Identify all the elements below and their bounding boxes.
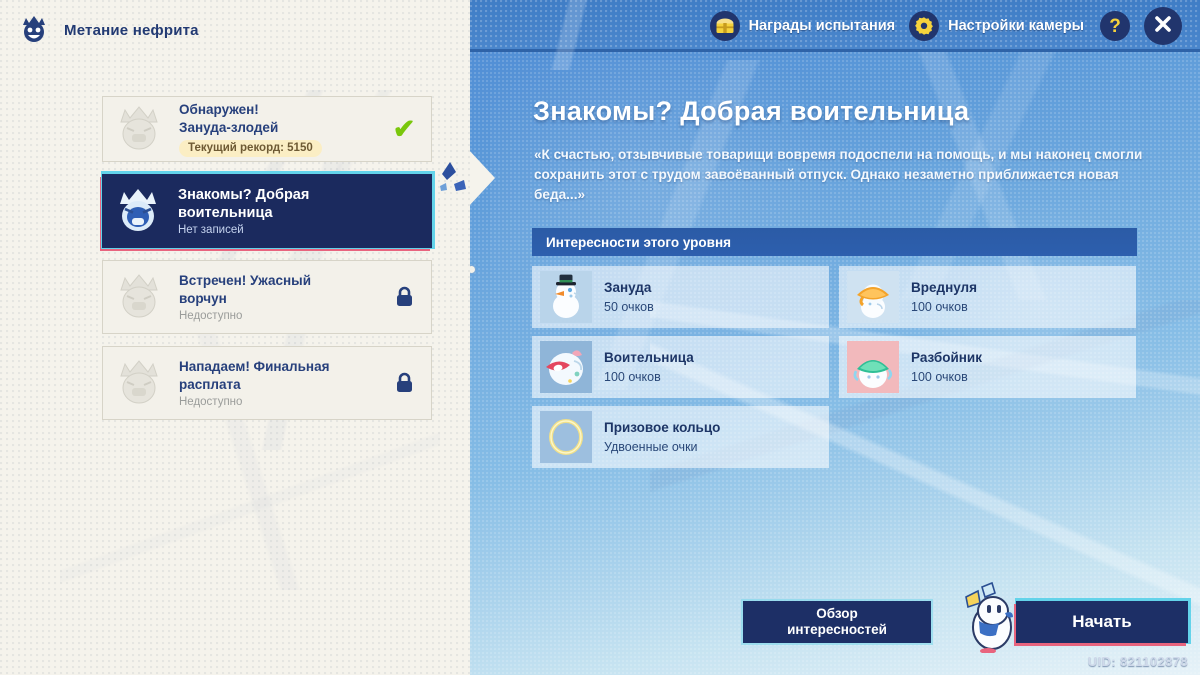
golden-ring-icon: [540, 411, 592, 463]
stage-item-4-title-line1: Нападаем! Финальная: [179, 359, 329, 374]
help-button[interactable]: ?: [1100, 11, 1130, 41]
poi-item-2-value: 100 очков: [911, 300, 977, 314]
stage-item-4-title-line2: расплата: [179, 377, 241, 392]
lock-icon: [387, 286, 421, 308]
poi-item-2-text: Вреднуля 100 очков: [911, 280, 977, 313]
footer-actions: Обзор интересностей Начать UID: 82110287…: [470, 585, 1200, 675]
poi-item-1-value: 50 очков: [604, 300, 654, 314]
start-button[interactable]: Начать: [1016, 601, 1188, 643]
toolbar-actions: Награды испытания Настройки камеры ?: [710, 0, 1182, 52]
overview-button-label: Обзор интересностей: [787, 606, 887, 637]
close-button[interactable]: [1144, 7, 1182, 45]
stage-item-4[interactable]: Нападаем! Финальная расплата Недоступно: [102, 346, 432, 420]
stage-item-3-title-line2: ворчун: [179, 291, 227, 306]
poi-item-3-name: Воительница: [604, 350, 694, 366]
poi-item-3-text: Воительница 100 очков: [604, 350, 694, 383]
page-title: Метание нефрита: [64, 22, 199, 39]
detail-heading: Знакомы? Добрая воительница: [533, 96, 969, 127]
stage-list: Обнаружен! Зануда-злодей Текущий рекорд:…: [102, 96, 432, 432]
stage-item-2-title-line1: Знакомы? Добрая: [178, 187, 309, 203]
stage-item-2-text: Знакомы? Добрая воительница Нет записей: [178, 186, 422, 236]
detail-story-text: «К счастью, отзывчивые товарищи вовремя …: [534, 145, 1149, 205]
poi-item-2-name: Вреднуля: [911, 280, 977, 296]
overview-button-label-line1: Обзор: [787, 606, 887, 622]
detail-content: Знакомы? Добрая воительница «К счастью, …: [470, 52, 1200, 675]
stage-item-4-subtitle: Недоступно: [179, 396, 387, 408]
stage-item-3-title-line1: Встречен! Ужасный: [179, 273, 311, 288]
green-check-icon: ✔: [387, 116, 421, 143]
crowned-creature-thumb-locked-icon: [113, 357, 165, 409]
uid-label: UID: 821102878: [1088, 654, 1188, 669]
stage-item-3-text: Встречен! Ужасный ворчун Недоступно: [179, 272, 387, 322]
poi-section-header: Интересности этого уровня: [532, 228, 1137, 256]
poi-section-title: Интересности этого уровня: [546, 235, 731, 250]
crowned-creature-thumb-locked-icon: [113, 103, 165, 155]
poi-item-5-text: Призовое кольцо Удвоенные очки: [604, 420, 720, 453]
stage-item-1-text: Обнаружен! Зануда-злодей Текущий рекорд:…: [179, 101, 387, 157]
snowman-orange-hat-icon: [847, 271, 899, 323]
poi-item-3[interactable]: Воительница 100 очков: [532, 336, 829, 398]
overview-button-label-line2: интересностей: [787, 622, 887, 638]
stage-item-1-record-badge: Текущий рекорд: 5150: [179, 140, 322, 157]
poi-item-2[interactable]: Вреднуля 100 очков: [839, 266, 1136, 328]
poi-item-5[interactable]: Призовое кольцо Удвоенные очки: [532, 406, 829, 468]
stage-item-2-selected[interactable]: Знакомы? Добрая воительница Нет записей: [102, 174, 432, 248]
overview-button[interactable]: Обзор интересностей: [743, 601, 931, 643]
challenge-rewards-button[interactable]: Награды испытания: [710, 11, 896, 41]
stage-item-3-subtitle: Недоступно: [179, 310, 387, 322]
poi-item-5-value: Удвоенные очки: [604, 440, 720, 454]
camera-settings-button[interactable]: Настройки камеры: [909, 11, 1084, 41]
stage-detail-panel: Награды испытания Настройки камеры ? Зна…: [470, 0, 1200, 675]
crowned-creature-icon: [18, 14, 50, 46]
stage-select-panel: Метание нефрита Обнаружен! Зануда-злодей…: [0, 0, 470, 675]
selection-shard-decoration: [438, 160, 470, 206]
stage-item-4-text: Нападаем! Финальная расплата Недоступно: [179, 358, 387, 408]
poi-item-3-value: 100 очков: [604, 370, 694, 384]
green-bandit-icon: [847, 341, 899, 393]
poi-item-4[interactable]: Разбойник 100 очков: [839, 336, 1136, 398]
poi-item-5-name: Призовое кольцо: [604, 420, 720, 436]
poi-grid: Зануда 50 очков: [532, 266, 1137, 468]
stage-item-2-title-line2: воительница: [178, 205, 273, 221]
start-button-label: Начать: [1072, 612, 1131, 632]
question-mark-icon: ?: [1109, 17, 1121, 36]
stage-item-2-subtitle: Нет записей: [178, 224, 422, 236]
stage-item-1-title-line2: Зануда-злодей: [179, 120, 278, 135]
stage-item-1-title-line1: Обнаружен!: [179, 102, 259, 117]
poi-item-1-text: Зануда 50 очков: [604, 280, 654, 313]
gear-icon: [909, 11, 939, 41]
poi-item-4-text: Разбойник 100 очков: [911, 350, 982, 383]
penguin-mascot-icon: [952, 581, 1020, 653]
poi-item-4-value: 100 очков: [911, 370, 982, 384]
stage-item-1[interactable]: Обнаружен! Зануда-злодей Текущий рекорд:…: [102, 96, 432, 162]
crowned-creature-thumb-active-icon: [112, 185, 164, 237]
lock-icon: [387, 372, 421, 394]
stage-item-3[interactable]: Встречен! Ужасный ворчун Недоступно: [102, 260, 432, 334]
poi-item-4-name: Разбойник: [911, 350, 982, 366]
poi-item-1-name: Зануда: [604, 280, 654, 296]
challenge-rewards-label: Награды испытания: [749, 18, 896, 34]
masked-warrior-icon: [540, 341, 592, 393]
crowned-creature-thumb-locked-icon: [113, 271, 165, 323]
window-titlebar: Метание нефрита: [0, 0, 470, 60]
poi-item-1[interactable]: Зануда 50 очков: [532, 266, 829, 328]
snowman-top-hat-icon: [540, 271, 592, 323]
treasure-chest-icon: [710, 11, 740, 41]
close-x-icon: [1152, 13, 1174, 40]
camera-settings-label: Настройки камеры: [948, 18, 1084, 34]
